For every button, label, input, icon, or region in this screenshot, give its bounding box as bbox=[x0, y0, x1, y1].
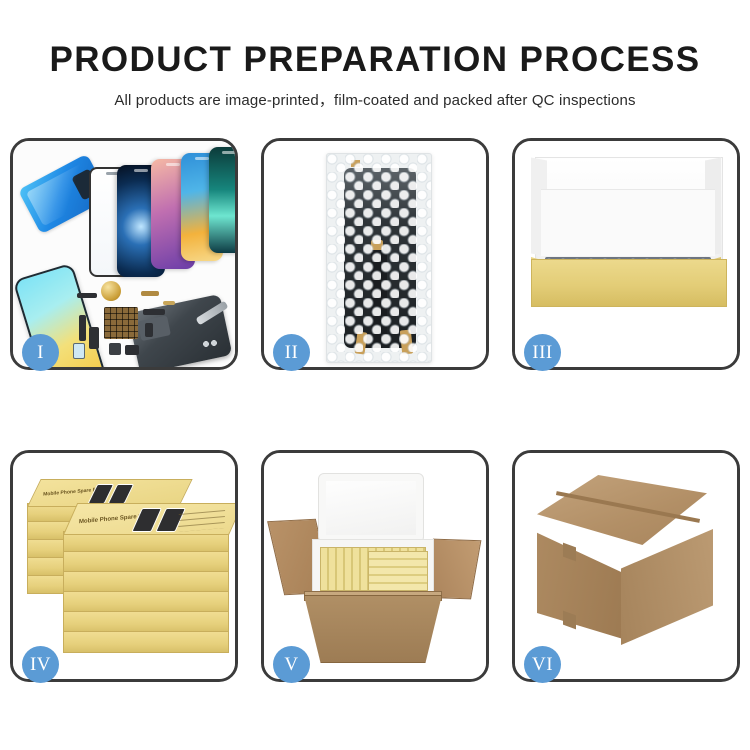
box-lid-inner-face bbox=[541, 189, 715, 256]
foam-lid-image bbox=[318, 473, 424, 543]
step-badge-6: VI bbox=[524, 646, 561, 683]
kraft-tray-front bbox=[531, 259, 727, 307]
process-step-panel-1: I bbox=[10, 138, 238, 370]
sealed-carton-left-face bbox=[537, 521, 623, 639]
step-6-illustration bbox=[515, 453, 737, 679]
header: PRODUCT PREPARATION PROCESS All products… bbox=[0, 0, 750, 110]
connector-part-icon bbox=[163, 301, 175, 305]
sealed-carton-right-face bbox=[621, 529, 713, 645]
screws-part-icon bbox=[203, 339, 221, 349]
bubble-texture-overlay bbox=[327, 154, 431, 362]
flex-cable-part-5 bbox=[143, 309, 165, 315]
process-step-panel-4: Mobile Phone Spare Parts Mobile Phone Sp… bbox=[10, 450, 238, 682]
box-spec-lines bbox=[178, 508, 225, 532]
step-4-illustration: Mobile Phone Spare Parts Mobile Phone Sp… bbox=[13, 453, 235, 679]
camera-module-part-icon bbox=[125, 345, 139, 355]
step-badge-2: II bbox=[273, 334, 310, 371]
sealed-carton-top-face bbox=[537, 475, 707, 545]
shipping-carton-body bbox=[304, 595, 442, 663]
process-step-panel-2: II bbox=[261, 138, 489, 370]
step-badge-1: I bbox=[22, 334, 59, 371]
front-stack-box-5 bbox=[63, 611, 229, 633]
step-1-illustration bbox=[13, 141, 235, 367]
packed-yellow-boxes-row-2 bbox=[368, 551, 428, 591]
process-step-panel-5: V bbox=[261, 450, 489, 682]
flex-cable-part-3 bbox=[89, 327, 99, 349]
step-badge-5: V bbox=[273, 646, 310, 683]
front-stack-box-3 bbox=[63, 571, 229, 593]
page-title: PRODUCT PREPARATION PROCESS bbox=[0, 0, 750, 79]
bubble-wrap-bag-image bbox=[326, 153, 432, 363]
step-badge-3: III bbox=[524, 334, 561, 371]
step-badge-4: IV bbox=[22, 646, 59, 683]
step-3-illustration bbox=[515, 141, 737, 367]
step-2-illustration bbox=[264, 141, 486, 367]
front-stack-box-4 bbox=[63, 591, 229, 613]
ic-chip-part-icon bbox=[104, 307, 138, 339]
process-step-panel-6: VI bbox=[512, 450, 740, 682]
step-5-illustration bbox=[264, 453, 486, 679]
sim-tray-part-icon bbox=[73, 343, 85, 359]
speaker-part-icon bbox=[109, 343, 121, 355]
flex-cable-part-4 bbox=[141, 291, 159, 296]
flex-cable-part-1 bbox=[77, 293, 97, 298]
front-stack-top-lid: Mobile Phone Spare Parts bbox=[63, 503, 235, 535]
box-stack-group: Mobile Phone Spare Parts Mobile Phone Sp… bbox=[21, 469, 233, 667]
flex-cable-part-2 bbox=[79, 315, 86, 341]
page-subtitle: All products are image-printed，film-coat… bbox=[0, 79, 750, 110]
phone-display-image-4 bbox=[209, 147, 235, 253]
product-preparation-infographic: PRODUCT PREPARATION PROCESS All products… bbox=[0, 0, 750, 750]
vibrator-motor-part-icon bbox=[101, 281, 121, 301]
process-step-grid: I II bbox=[10, 138, 740, 682]
front-stack-box-6 bbox=[63, 631, 229, 653]
process-step-panel-3: III bbox=[512, 138, 740, 370]
flex-cable-part-6 bbox=[145, 323, 153, 337]
front-stack-box-2 bbox=[63, 551, 229, 573]
